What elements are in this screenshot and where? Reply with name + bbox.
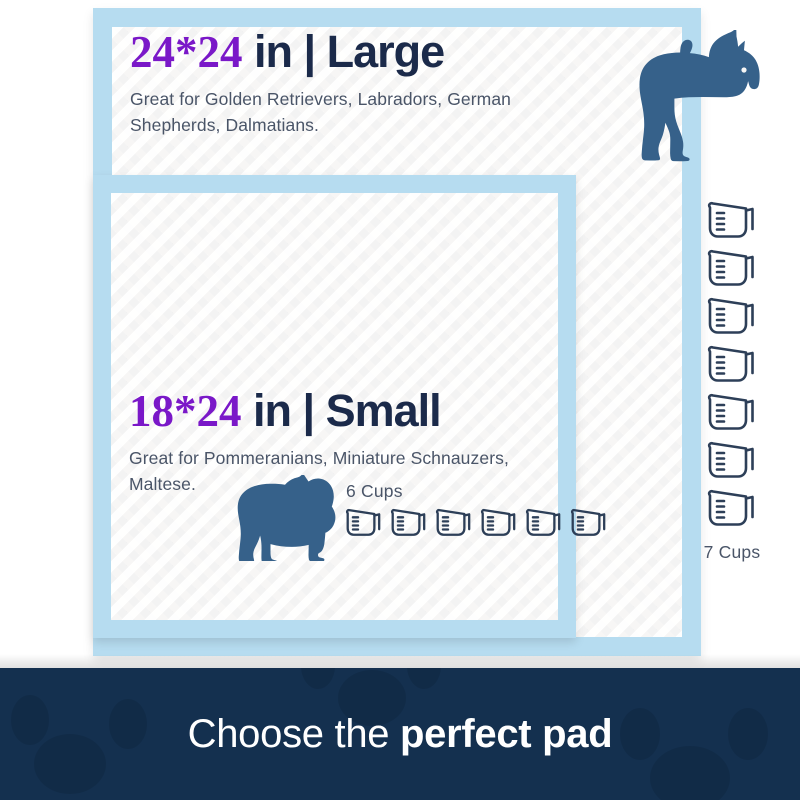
small-pad-description: Great for Pommeranians, Miniature Schnau…: [129, 446, 549, 497]
measuring-cup-icon: [524, 506, 564, 539]
large-pad-description: Great for Golden Retrievers, Labradors, …: [130, 87, 560, 138]
infographic-canvas: 24*24 in | Large Great for Golden Retrie…: [0, 0, 800, 800]
large-pad-cups-group: 7 Cups: [697, 198, 767, 563]
large-pad-headline: 24*24 in | Large: [130, 28, 560, 76]
measuring-cup-icon: [434, 506, 474, 539]
measuring-cup-icon: [479, 506, 519, 539]
measuring-cup-icon: [705, 246, 759, 290]
measuring-cup-icon: [705, 294, 759, 338]
cups-row: [344, 506, 609, 539]
measuring-cup-icon: [705, 486, 759, 530]
banner-text-bold: perfect pad: [400, 712, 612, 756]
small-pad-card: 6 Cups 18*24 in | Small Great for Pommer…: [93, 175, 576, 638]
large-pad-cups-label: 7 Cups: [697, 542, 767, 563]
small-pad-size-number: 18*24: [129, 386, 242, 436]
measuring-cup-icon: [705, 342, 759, 386]
small-pad-text-block: 18*24 in | Small Great for Pommeranians,…: [129, 387, 549, 497]
measuring-cup-icon: [344, 506, 384, 539]
banner-text-regular: Choose the: [188, 712, 400, 756]
large-pad-size-label: in | Large: [243, 26, 445, 77]
cups-column: [697, 198, 767, 530]
large-pad-text-block: 24*24 in | Large Great for Golden Retrie…: [130, 28, 560, 138]
banner-headline: Choose the perfect pad: [188, 712, 613, 757]
measuring-cup-icon: [705, 198, 759, 242]
measuring-cup-icon: [569, 506, 609, 539]
large-pad-size-number: 24*24: [130, 27, 243, 77]
measuring-cup-icon: [705, 390, 759, 434]
measuring-cup-icon: [389, 506, 429, 539]
small-pad-headline: 18*24 in | Small: [129, 387, 549, 435]
boxer-dog-silhouette-icon: [624, 30, 764, 162]
bottom-banner: Choose the perfect pad: [0, 668, 800, 800]
banner-top-shadow: [0, 654, 800, 668]
small-pad-size-label: in | Small: [242, 385, 441, 436]
measuring-cup-icon: [705, 438, 759, 482]
